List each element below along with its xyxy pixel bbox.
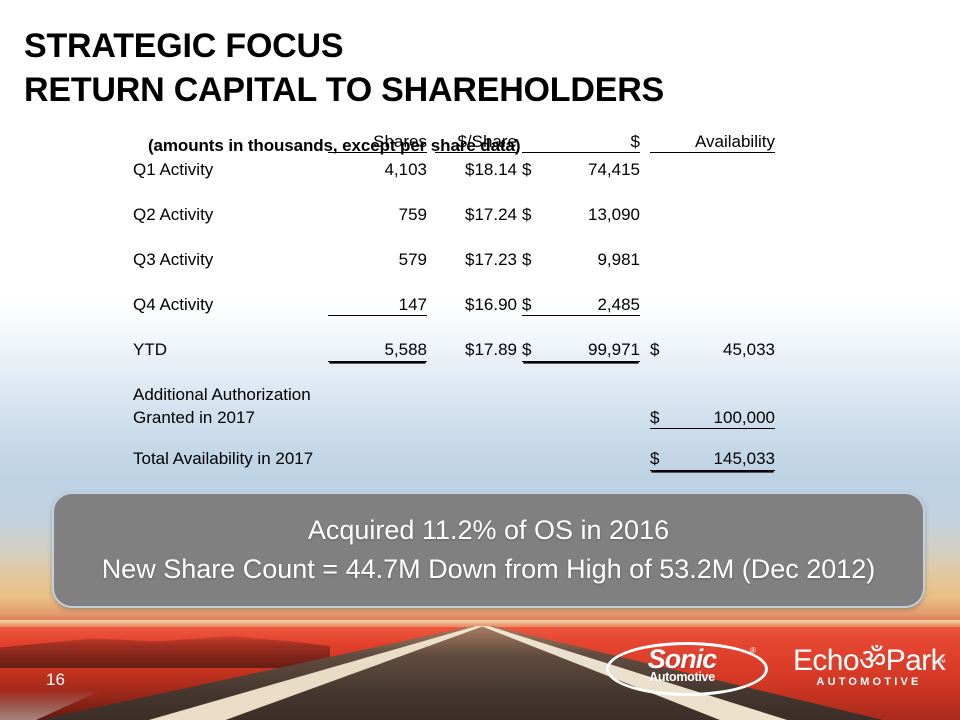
table-header-row: (amounts in thousands, except per share … xyxy=(130,132,790,160)
callout-text: Acquired 11.2% of OS in 2016 New Share C… xyxy=(102,511,876,589)
sonic-automotive-logo: Sonic Automotive ® xyxy=(600,638,768,694)
column-header-shares: Shares xyxy=(328,132,427,153)
cell-per-share: $17.23 xyxy=(435,250,517,270)
cell-shares: 759 xyxy=(328,205,427,225)
page-title-line-2: RETURN CAPITAL TO SHAREHOLDERS xyxy=(24,68,924,112)
cell-availability: 45,033 xyxy=(650,340,775,360)
table-row: Q3 Activity 579 $17.23 $ 9,981 xyxy=(130,250,790,295)
table-row: Q4 Activity 147 $16.90 $ 2,485 xyxy=(130,295,790,340)
cell-dollars: 2,485 xyxy=(522,295,640,316)
sonic-registered-icon: ® xyxy=(750,646,756,655)
cell-shares: 4,103 xyxy=(328,160,427,180)
table-row-total-availability: Total Availability in 2017 $ 145,033 xyxy=(130,435,790,475)
row-label: Q3 Activity xyxy=(133,250,213,270)
echopark-trademark-icon: ™ xyxy=(938,658,946,667)
row-label: YTD xyxy=(133,340,167,360)
cell-availability-symbol: $ xyxy=(650,340,666,360)
cell-per-share: $16.90 xyxy=(435,295,517,315)
row-label: Q1 Activity xyxy=(133,160,213,180)
table-row: Q2 Activity 759 $17.24 $ 13,090 xyxy=(130,205,790,250)
cell-per-share: $17.24 xyxy=(435,205,517,225)
callout-line-2: New Share Count = 44.7M Down from High o… xyxy=(102,550,876,589)
row-label: Q2 Activity xyxy=(133,205,213,225)
cell-dollar-symbol: $ xyxy=(522,295,538,315)
cell-dollars: 99,971 xyxy=(522,340,640,362)
row-label: Total Availability in 2017 xyxy=(133,449,313,469)
cell-availability-symbol: $ xyxy=(650,449,666,469)
echopark-tagline: AUTOMOTIVE xyxy=(786,676,952,688)
cell-availability-symbol: $ xyxy=(650,408,666,428)
page-title: STRATEGIC FOCUS RETURN CAPITAL TO SHAREH… xyxy=(24,24,924,112)
page-title-line-1: STRATEGIC FOCUS xyxy=(24,24,924,68)
column-header-dollars: $ xyxy=(522,132,640,153)
cell-availability: 145,033 xyxy=(650,449,775,471)
cell-dollar-symbol: $ xyxy=(522,340,538,360)
table-row: Q1 Activity 4,103 $18.14 $ 74,415 xyxy=(130,160,790,205)
cell-availability: 100,000 xyxy=(650,408,775,429)
callout-line-1: Acquired 11.2% of OS in 2016 xyxy=(102,511,876,550)
echopark-automotive-logo: EchoॐPark AUTOMOTIVE ™ xyxy=(786,638,952,694)
table-row-additional-authorization: Additional Authorization Granted in 2017… xyxy=(130,385,790,435)
echopark-wordmark: EchoॐPark xyxy=(786,638,952,679)
cell-dollars: 9,981 xyxy=(522,250,640,270)
row-label-line-1: Additional Authorization xyxy=(133,385,311,405)
footer-logos: Sonic Automotive ® EchoॐPark AUTOMOTIVE … xyxy=(600,636,950,698)
cell-dollars: 74,415 xyxy=(522,160,640,180)
page-number: 16 xyxy=(46,670,65,690)
column-header-availability: Availability xyxy=(650,132,775,153)
column-header-per-share: $/Share xyxy=(435,132,517,153)
cell-per-share: $17.89 xyxy=(435,340,517,360)
cell-per-share: $18.14 xyxy=(435,160,517,180)
cell-shares: 579 xyxy=(328,250,427,270)
cell-dollars: 13,090 xyxy=(522,205,640,225)
slide-canvas: STRATEGIC FOCUS RETURN CAPITAL TO SHAREH… xyxy=(0,0,960,720)
row-label: Q4 Activity xyxy=(133,295,213,315)
table-row-total: YTD 5,588 $17.89 $ 99,971 $ 45,033 xyxy=(130,340,790,385)
cell-shares: 5,588 xyxy=(328,340,427,362)
sonic-tagline: Automotive xyxy=(612,670,752,684)
cell-shares: 147 xyxy=(328,295,427,316)
row-label-line-2: Granted in 2017 xyxy=(133,408,255,428)
highlight-callout-box: Acquired 11.2% of OS in 2016 New Share C… xyxy=(52,492,925,608)
background-horizon-line xyxy=(0,620,960,627)
share-repurchase-table: (amounts in thousands, except per share … xyxy=(130,132,790,475)
